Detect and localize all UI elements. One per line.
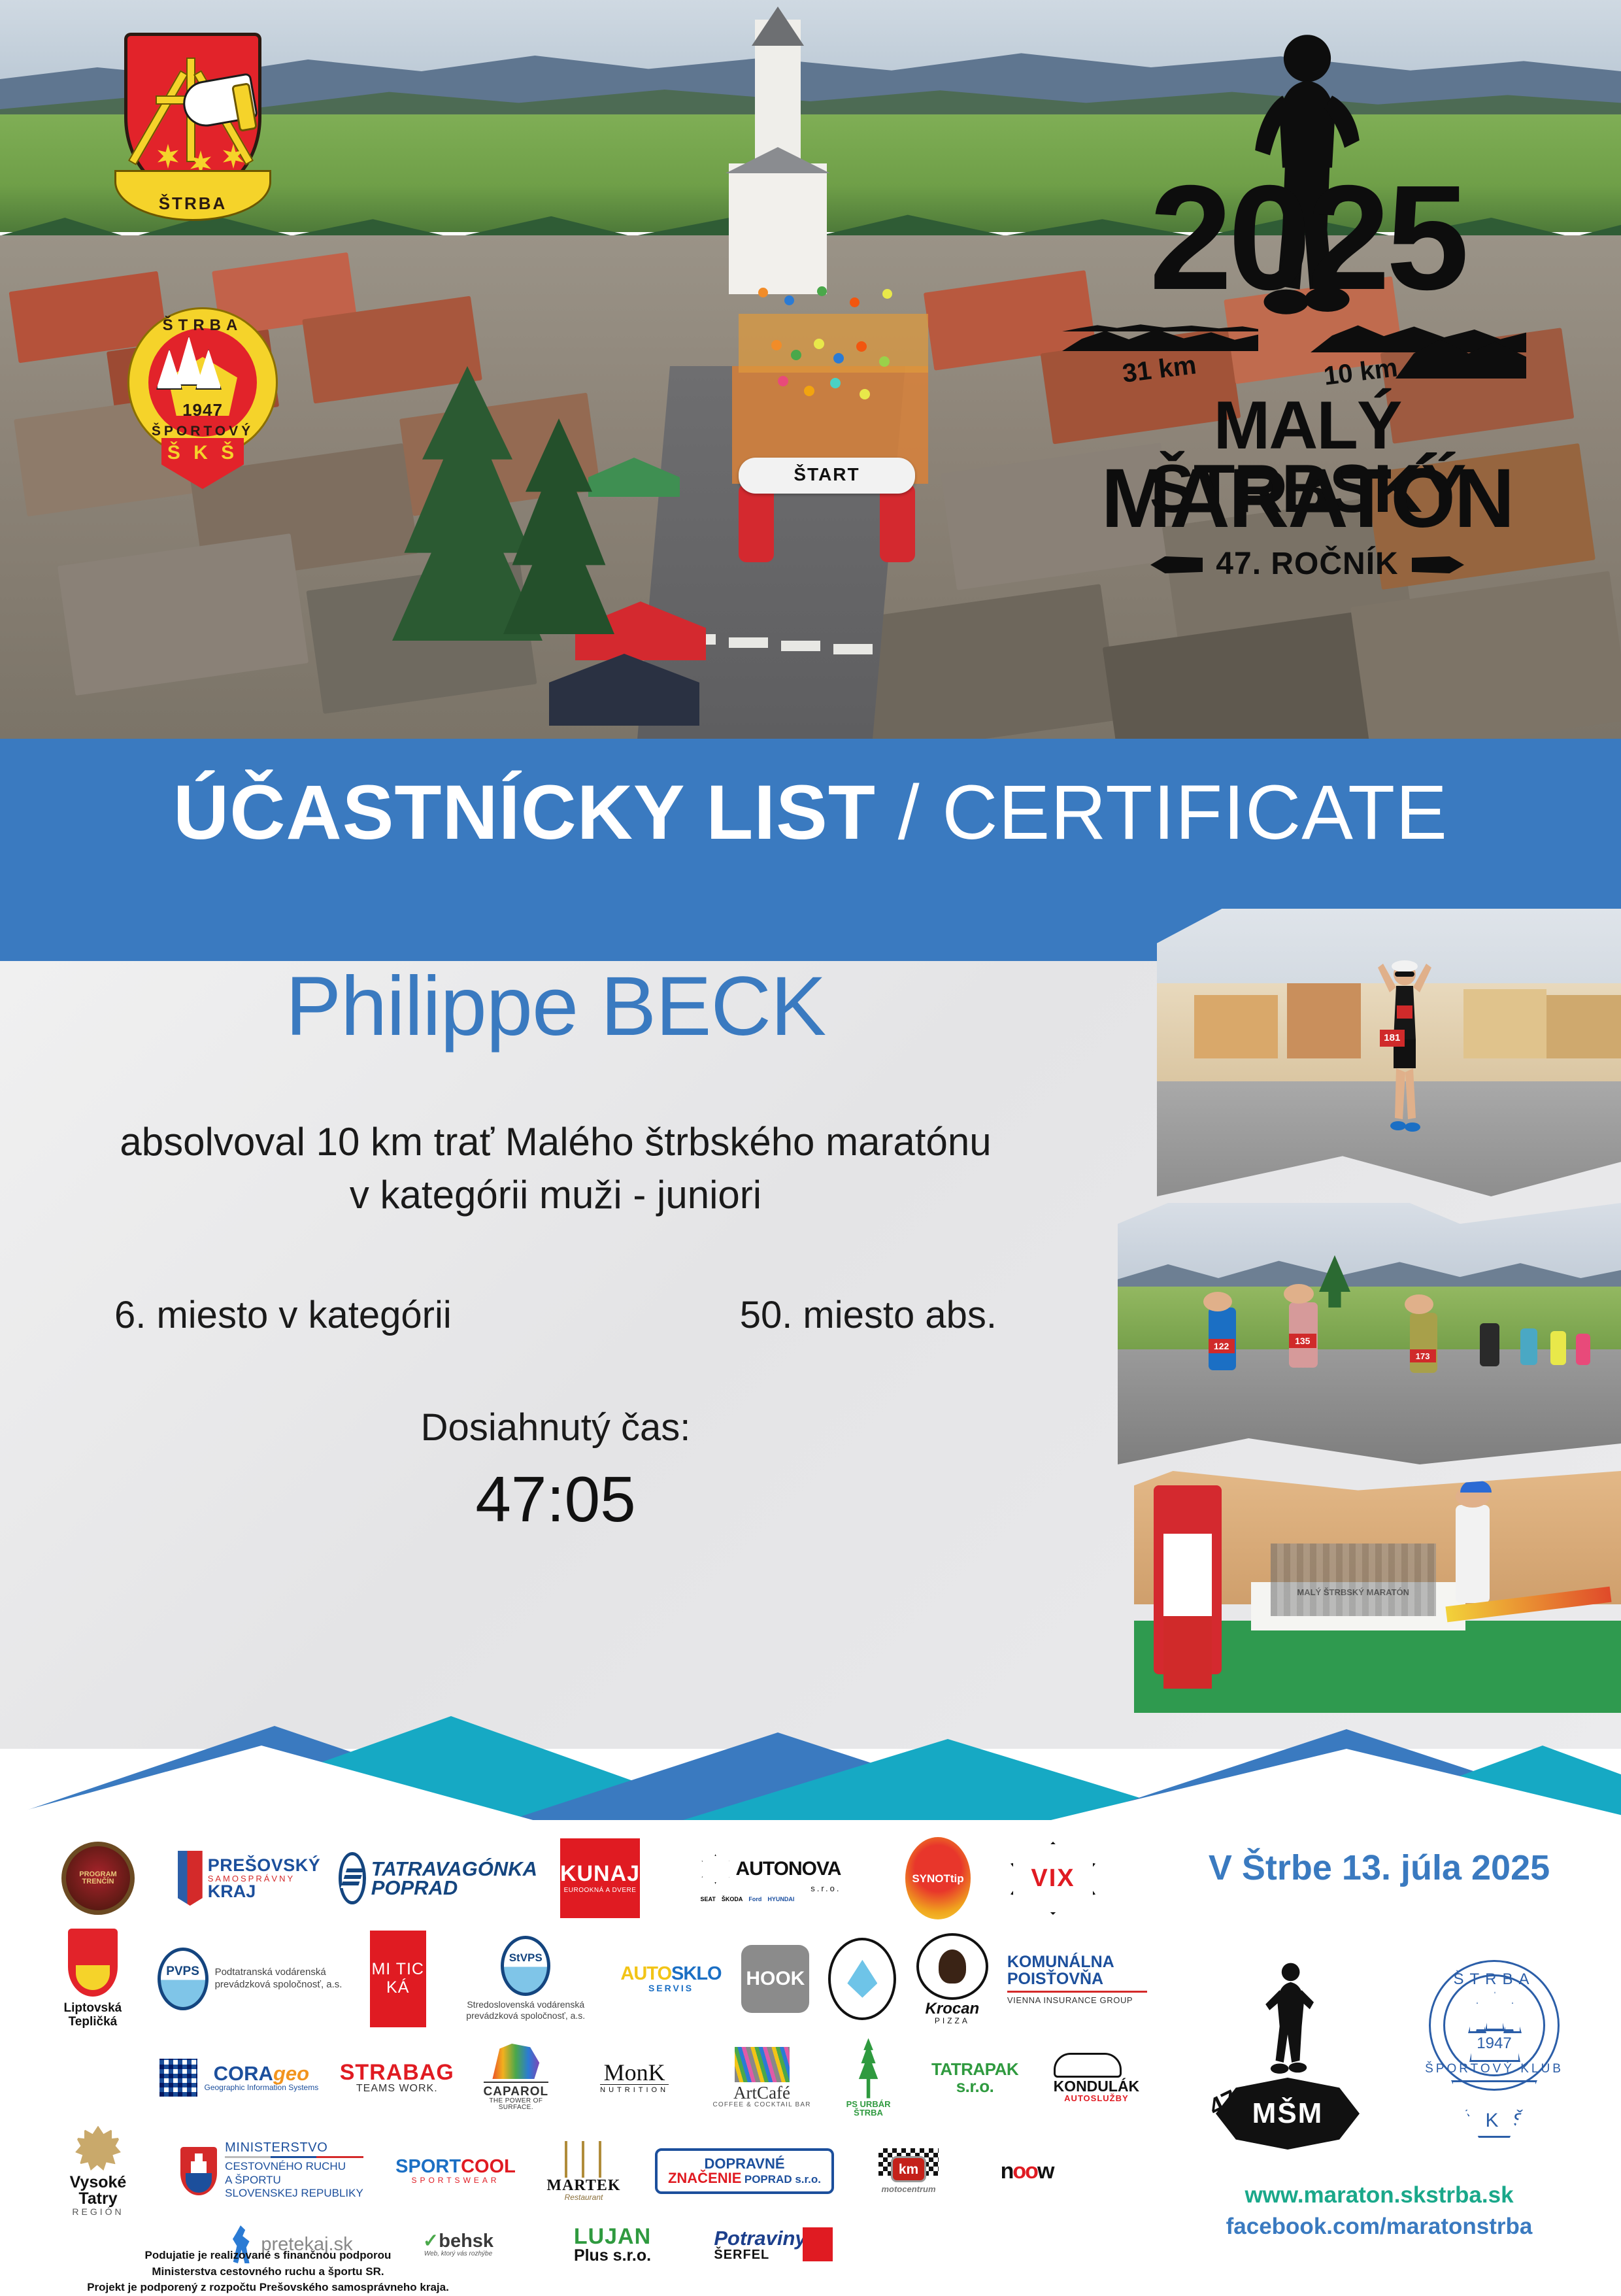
sponsor-hook: HOOK — [741, 1945, 811, 2013]
bib-number: 181 — [1380, 1030, 1405, 1047]
sponsor-row-1: PROGRAM TRENČÍN PREŠOVSKÝ SAMOSPRÁVNY KR… — [49, 1837, 1147, 1919]
participant-name: Philippe BECK — [0, 961, 1111, 1053]
sks-top-label: ŠTRBA — [127, 316, 278, 335]
distance-long-label: 31 km — [1121, 350, 1198, 388]
start-arch-label: ŠTART — [739, 464, 915, 485]
fineprint-line3: Projekt je podporený z rozpočtu Prešovsk… — [39, 2280, 497, 2296]
sponsor-strabag: STRABAG TEAMS WORK. — [340, 2061, 454, 2094]
event-logo: 2025 31 km 10 km MALÝ ŠTRBSKÝ MARATÓN 47… — [1049, 23, 1565, 592]
presov-flag-icon — [178, 1851, 203, 1906]
sponsor-synottip: SYNOTtip — [892, 1837, 984, 1919]
event-edition: 47. ROČNÍK — [1049, 546, 1565, 582]
sks-year: 1947 — [148, 400, 257, 420]
stamp-top-label: ŠTRBA — [1429, 1970, 1560, 1989]
event-year: 2025 — [1049, 163, 1565, 312]
photo-female-finisher: 181 — [1157, 909, 1621, 1196]
sponsor-lujan: LUJAN Plus s.r.o. — [547, 2225, 678, 2264]
sponsor-row-2: Liptovská Tepličká PVPS Podtatranská vod… — [49, 1929, 1147, 2029]
website-link[interactable]: www.maraton.skstrba.sk — [1170, 2182, 1588, 2208]
car-icon — [1054, 2053, 1122, 2078]
sponsor-motocentrum: km motocentrum — [853, 2148, 964, 2193]
caparol-elephant-icon — [490, 2044, 541, 2079]
bib-number: 173 — [1410, 1349, 1436, 1362]
time-value: 47:05 — [0, 1462, 1111, 1536]
sponsor-caparol: CAPAROL THE POWER OF SURFACE. — [471, 2044, 561, 2111]
sponsor-tatravagonka: TATRAVAGÓNKA POPRAD — [351, 1852, 534, 1904]
bib-number: 135 — [1289, 1334, 1316, 1348]
program-logo: PROGRAM TRENČÍN — [61, 1842, 135, 1915]
stamp-year: 1947 — [1443, 2034, 1545, 2053]
sponsor-footer: PROGRAM TRENČÍN PREŠOVSKÝ SAMOSPRÁVNY KR… — [0, 1824, 1621, 2293]
hero-photo: ŠTART ŠTRBA — [0, 0, 1621, 739]
certificate-content: Philippe BECK absolvoval 10 km trať Malé… — [0, 961, 1111, 1536]
fineprint-line2: Ministerstva cestovného ruchu a športu S… — [39, 2264, 497, 2280]
footer-right-column: V Štrbe 13. júla 2025 47. MŠM — [1170, 1836, 1588, 2267]
sponsor-kondulak: KONDULÁK AUTOSLUŽBY — [1046, 2053, 1147, 2102]
sponsor-row-4: Vysoké Tatry REGIÓN MINISTERSTVO CESTOVN… — [49, 2126, 1147, 2216]
time-label: Dosiahnutý čas: — [0, 1406, 1111, 1449]
sponsor-autonova: AUTONOVA s.r.o. SEAT ŠKODA Ford HYUNDAI — [666, 1854, 875, 1902]
sponsor-corageo: CORAgeo Geographic Information Systems — [156, 2059, 323, 2097]
artcafe-bars-icon — [735, 2047, 790, 2082]
event-title-line2: MARATÓN — [1049, 460, 1565, 537]
sponsor-pvps: PVPS Podtatranská vodárenská prevádzková… — [154, 1948, 346, 2010]
tatry-sun-icon — [75, 2126, 121, 2172]
sponsor-row-3: CORAgeo Geographic Information Systems S… — [49, 2038, 1147, 2117]
fineprint-line1: Podujatie je realizované s finančnou pod… — [39, 2248, 497, 2264]
facebook-link[interactable]: facebook.com/maratonstrba — [1170, 2214, 1588, 2240]
stamp-abbr-shield: Š K Š — [1451, 2080, 1537, 2138]
tree-icon — [854, 2038, 884, 2099]
bib-number: 122 — [1209, 1339, 1235, 1353]
sks-abbr: Š K Š — [167, 442, 238, 464]
sponsor-stvps: StVPS Stredoslovenská vodárenská prevádz… — [450, 1936, 601, 2022]
stamp-bottom-label: ŠPORTOVÝ KLUB — [1420, 2062, 1569, 2076]
photo-runners-group: 122 135 173 — [1118, 1203, 1621, 1464]
msm-logo: 47. MŠM — [1209, 1960, 1366, 2150]
msm-abbr: MŠM — [1252, 2097, 1324, 2130]
sponsor-potraviny-serfel: Potraviny ŠERFEL — [695, 2227, 852, 2261]
strba-coat-of-arms: ŠTRBA — [118, 33, 268, 248]
photo-collage: 181 122 135 173 MALÝ ŠTRBSKÝ MARATÓN — [1098, 909, 1621, 1713]
sponsor-program: PROGRAM TRENČÍN — [49, 1842, 147, 1915]
sponsor-kunaj: KUNAJ EUROOKNÁ A DVERE — [551, 1838, 649, 1918]
sponsor-pd-strba — [827, 1938, 897, 2020]
title-light: / CERTIFICATE — [876, 769, 1448, 856]
distance-short-label: 10 km — [1322, 353, 1399, 391]
pd-strba-logo — [828, 1938, 896, 2020]
sponsor-noow: noow — [981, 2160, 1073, 2182]
certificate-description: absolvoval 10 km trať Malého štrbského m… — [0, 1115, 1111, 1221]
sponsor-grid: PROGRAM TRENČÍN PREŠOVSKÝ SAMOSPRÁVNY KR… — [49, 1837, 1147, 2242]
sponsor-dopravne-znacenie: DOPRAVNÉ ZNAČENIE POPRAD s.r.o. — [653, 2148, 836, 2194]
cutlery-icon — [558, 2141, 609, 2178]
place-absolute: 50. miesto abs. — [740, 1293, 997, 1337]
sponsor-vix: VIX — [1001, 1842, 1105, 1915]
slovak-crest-icon — [180, 2147, 217, 2195]
sponsor-autosklo: AUTOSKLO SERVIS — [618, 1965, 724, 1993]
sponsor-tatrapak: TATRAPAK s.r.o. — [921, 2061, 1028, 2095]
event-date: V Štrbe 13. júla 2025 — [1170, 1848, 1588, 1888]
autonova-star-icon — [701, 1854, 731, 1884]
sponsor-ministerstvo: MINISTERSTVO CESTOVNÉHO RUCHU A ŠPORTU S… — [164, 2141, 380, 2200]
msm-diamond: MŠM — [1216, 2078, 1360, 2150]
sks-club-logo: ŠTRBA 1947 ŠPORTOVÝ KLUB Š K Š — [114, 301, 291, 490]
coat-of-arms-label: ŠTRBA — [159, 194, 227, 214]
placement-row: 6. miesto v kategórii 50. miesto abs. — [0, 1293, 1111, 1337]
sponsor-sportcool: SPORTCOOL SPORTSWEAR — [397, 2157, 514, 2184]
description-line1: absolvoval 10 km trať Malého štrbského m… — [78, 1115, 1033, 1168]
sponsor-liptovska-teplicka: Liptovská Tepličká — [49, 1929, 137, 2029]
corageo-grid-icon — [159, 2059, 197, 2097]
place-category: 6. miesto v kategórii — [114, 1293, 452, 1337]
sponsor-artcafe: ArtCafé COFFEE & COCKTAIL BAR — [708, 2047, 815, 2108]
runner-figure — [1375, 954, 1434, 1151]
fineprint: Podujatie je realizované s finančnou pod… — [39, 2248, 497, 2296]
title-bold: ÚČASTNÍCKY LIST — [173, 769, 876, 856]
sponsor-komunalna: KOMUNÁLNA POISŤOVŇA VIENNA INSURANCE GRO… — [1007, 1953, 1147, 2005]
sponsor-miticka: MI TIC KÁ — [363, 1931, 433, 2027]
sponsor-vysoke-tatry: Vysoké Tatry REGIÓN — [49, 2126, 147, 2216]
mountain-divider — [0, 1687, 1621, 1837]
sponsor-presovsky-kraj: PREŠOVSKÝ SAMOSPRÁVNY KRAJ — [164, 1851, 334, 1906]
certificate-title-banner: ÚČASTNÍCKY LIST / CERTIFICATE — [0, 739, 1621, 886]
sponsor-krocan: Krocan PIZZA — [914, 1933, 990, 2025]
description-line2: v kategórii muži - juniori — [78, 1168, 1033, 1221]
msm-runner-icon — [1256, 1960, 1319, 2091]
sponsor-martek: MARTEK Restaurant — [531, 2141, 636, 2201]
start-arch: ŠTART — [739, 458, 915, 562]
sponsor-urbar-strba: PS URBÁR ŠTRBA — [833, 2038, 905, 2117]
page-title: ÚČASTNÍCKY LIST / CERTIFICATE — [173, 774, 1448, 851]
sponsor-monk: MonK NUTRITION — [578, 2061, 692, 2094]
club-stamp: ŠTRBA 1947 ŠPORTOVÝ KLUB Š K Š — [1413, 1952, 1577, 2148]
photo-winner-finish: MALÝ ŠTRBSKÝ MARATÓN — [1134, 1471, 1621, 1713]
liptovska-crest-icon — [68, 1929, 118, 1997]
